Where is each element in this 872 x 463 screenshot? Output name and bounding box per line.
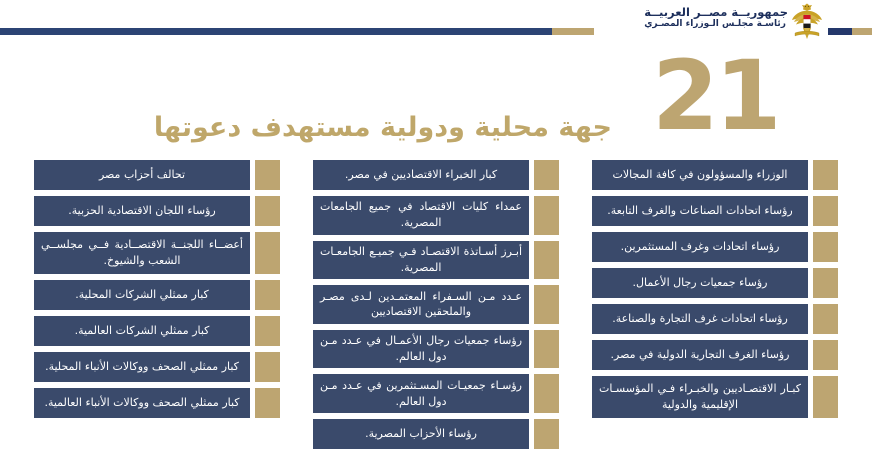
list-item[interactable]: رؤساء اتحادات وغرف المستثمرين. [592,232,838,262]
item-accent-block [534,374,559,413]
list-item[interactable]: أعضــاء اللجنــة الاقتصــادية فــي مجلسـ… [34,232,280,274]
item-label: رؤساء اتحادات غرف التجارة والصناعة. [592,304,808,334]
entity-columns: الوزراء والمسؤولون في كافة المجالات رؤسا… [0,160,872,455]
header-rule-right-gold-segment [852,28,872,35]
wordmark-republic-name: جمهوريــة مصــر العربيــة [644,5,788,19]
column-right: الوزراء والمسؤولون في كافة المجالات رؤسا… [592,160,838,455]
item-label: رؤساء جمعيات رجال الأعمال. [592,268,808,298]
list-item[interactable]: رؤساء الغرف التجارية الدولية في مصر. [592,340,838,370]
item-accent-block [255,280,280,310]
list-item[interactable]: كبار ممثلي الشركات المحلية. [34,280,280,310]
list-item[interactable]: كبار ممثلي الشركات العالمية. [34,316,280,346]
list-item[interactable]: رؤساء الأحزاب المصرية. [313,419,559,449]
item-accent-block [255,352,280,382]
item-label: كبار ممثلي الشركات العالمية. [34,316,250,346]
slide-number: 21 [652,48,778,144]
item-label: كبار ممثلي الصحف ووكالات الأنباء العالمي… [34,388,250,418]
item-label: رؤسـاء جمعيـات المسـتثمرين في عـدد مـن د… [313,374,529,413]
list-item[interactable]: عـدد مـن السـفراء المعتمـدين لـدى مصـر و… [313,285,559,324]
item-accent-block [534,241,559,280]
item-label: تحالف أحزاب مصر [34,160,250,190]
item-label: عـدد مـن السـفراء المعتمـدين لـدى مصـر و… [313,285,529,324]
item-label: رؤساء الأحزاب المصرية. [313,419,529,449]
government-wordmark: جمهوريــة مصــر العربيــة رئاسـة مجلـس ا… [644,5,788,31]
list-item[interactable]: تحالف أحزاب مصر [34,160,280,190]
page-title: جهة محلية ودولية مستهدف دعوتها [154,112,612,143]
header-rule-main [0,28,594,35]
egypt-eagle-emblem [790,2,824,42]
item-accent-block [255,316,280,346]
item-accent-block [534,196,559,235]
wordmark-cabinet-name: رئاسـة مجلـس الـوزراء المصـري [644,19,788,30]
item-label: رؤساء اتحادات الصناعات والغرف التابعة. [592,196,808,226]
list-item[interactable]: رؤساء جمعيات رجال الأعمـال في عـدد مـن د… [313,330,559,369]
list-item[interactable]: رؤسـاء جمعيـات المسـتثمرين في عـدد مـن د… [313,374,559,413]
column-middle: كبار الخبراء الاقتصاديين في مصر. عمداء ك… [313,160,559,455]
item-accent-block [813,340,838,370]
presentation-slide: جمهوريــة مصــر العربيــة رئاسـة مجلـس ا… [0,0,872,463]
item-accent-block [255,232,280,274]
item-accent-block [534,160,559,190]
item-accent-block [813,196,838,226]
item-label: الوزراء والمسؤولون في كافة المجالات [592,160,808,190]
list-item[interactable]: عمداء كليات الاقتصاد في جميع الجامعات ال… [313,196,559,235]
list-item[interactable]: كبار ممثلي الصحف ووكالات الأنباء العالمي… [34,388,280,418]
item-label: أعضــاء اللجنــة الاقتصــادية فــي مجلسـ… [34,232,250,274]
item-accent-block [813,304,838,334]
header-rule-gold-segment [552,28,594,35]
item-label: رؤساء جمعيات رجال الأعمـال في عـدد مـن د… [313,330,529,369]
list-item[interactable]: كبـار الاقتصـاديين والخبـراء فـي المؤسسـ… [592,376,838,418]
item-accent-block [255,388,280,418]
header-rule-right [828,28,872,35]
item-accent-block [534,285,559,324]
item-accent-block [813,160,838,190]
list-item[interactable]: رؤساء اتحادات غرف التجارة والصناعة. [592,304,838,334]
item-label: كبار الخبراء الاقتصاديين في مصر. [313,160,529,190]
list-item[interactable]: رؤساء اللجان الاقتصادية الحزبية. [34,196,280,226]
item-accent-block [813,268,838,298]
list-item[interactable]: كبار الخبراء الاقتصاديين في مصر. [313,160,559,190]
item-label: رؤساء اتحادات وغرف المستثمرين. [592,232,808,262]
item-label: كبار ممثلي الصحف ووكالات الأنباء المحلية… [34,352,250,382]
list-item[interactable]: رؤساء جمعيات رجال الأعمال. [592,268,838,298]
header-rule-right-navy-segment [828,28,852,35]
header-rule-navy-segment [0,28,552,35]
column-left: تحالف أحزاب مصر رؤساء اللجان الاقتصادية … [34,160,280,455]
item-accent-block [813,376,838,418]
list-item[interactable]: كبار ممثلي الصحف ووكالات الأنباء المحلية… [34,352,280,382]
item-accent-block [534,419,559,449]
item-label: رؤساء اللجان الاقتصادية الحزبية. [34,196,250,226]
item-accent-block [255,160,280,190]
list-item[interactable]: أبـرز أسـاتذة الاقتصـاد فـي جميـع الجامع… [313,241,559,280]
list-item[interactable]: الوزراء والمسؤولون في كافة المجالات [592,160,838,190]
item-label: كبار ممثلي الشركات المحلية. [34,280,250,310]
list-item[interactable]: رؤساء اتحادات الصناعات والغرف التابعة. [592,196,838,226]
item-label: رؤساء الغرف التجارية الدولية في مصر. [592,340,808,370]
item-label: كبـار الاقتصـاديين والخبـراء فـي المؤسسـ… [592,376,808,418]
item-label: عمداء كليات الاقتصاد في جميع الجامعات ال… [313,196,529,235]
item-label: أبـرز أسـاتذة الاقتصـاد فـي جميـع الجامع… [313,241,529,280]
item-accent-block [255,196,280,226]
item-accent-block [813,232,838,262]
item-accent-block [534,330,559,369]
